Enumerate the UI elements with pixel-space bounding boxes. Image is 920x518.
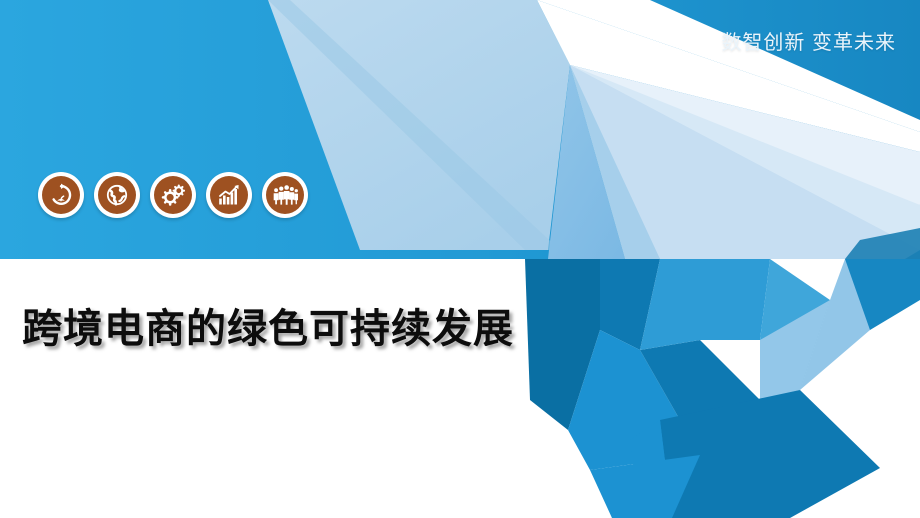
- recycle-sprout-icon-disc: [42, 176, 80, 214]
- recycle-sprout-icon[interactable]: [38, 172, 84, 218]
- bar-chart-growth-icon-disc: [210, 176, 248, 214]
- gears-icon-disc: [154, 176, 192, 214]
- tagline: 数智创新 变革未来: [721, 26, 896, 55]
- icon-strip: [38, 172, 308, 218]
- background-artwork: [0, 0, 920, 518]
- presentation-slide: 数智创新 变革未来: [0, 0, 920, 518]
- people-group-icon[interactable]: [262, 172, 308, 218]
- gears-icon[interactable]: [150, 172, 196, 218]
- facet-lower-right-bright: [640, 259, 770, 350]
- people-group-icon-disc: [266, 176, 304, 214]
- globe-icon-disc: [98, 176, 136, 214]
- globe-icon[interactable]: [94, 172, 140, 218]
- page-title: 跨境电商的绿色可持续发展: [22, 296, 514, 354]
- bar-chart-growth-icon[interactable]: [206, 172, 252, 218]
